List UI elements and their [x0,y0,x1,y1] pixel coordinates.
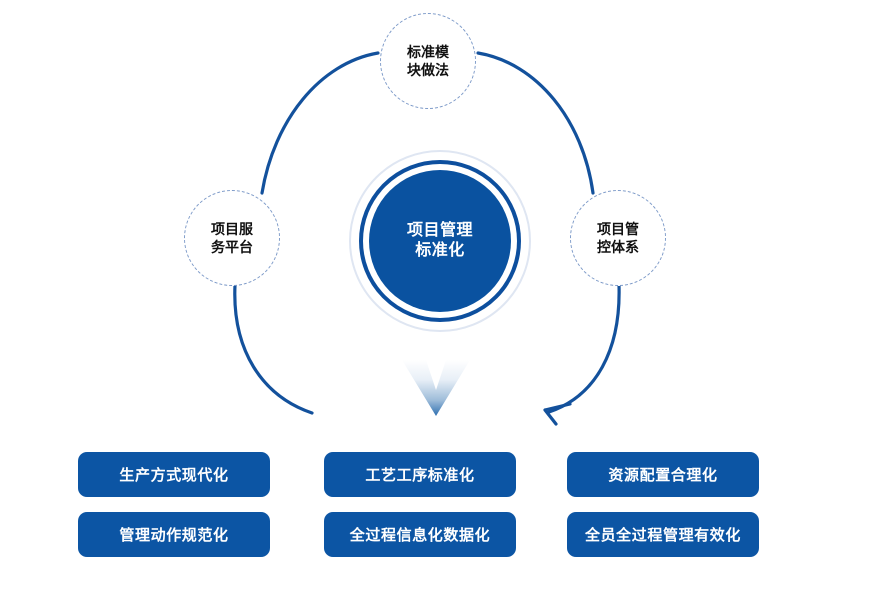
down-arrow-icon [396,356,476,418]
outcome-label: 工艺工序标准化 [365,464,474,485]
node-service-platform[interactable]: 项目服 务平台 [184,190,280,286]
center-core: 项目管理 标准化 [349,150,531,332]
arc-left-lower [235,285,312,413]
outcome-label: 管理动作规范化 [119,524,228,545]
center-ring-core: 项目管理 标准化 [369,170,511,312]
outcome-label: 全过程信息化数据化 [350,524,490,545]
diagram-canvas: 项目管理 标准化 标准模 块做法 项目服 务平台 项目管 控体系 生产方式现代化… [0,0,884,590]
outcome-box[interactable]: 全过程信息化数据化 [324,512,516,557]
node-standard-module[interactable]: 标准模 块做法 [380,13,476,109]
node-right-label: 项目管 控体系 [597,220,639,256]
center-title: 项目管理 标准化 [407,221,473,261]
arc-arrowhead [545,404,570,424]
outcome-box[interactable]: 管理动作规范化 [78,512,270,557]
outcome-box[interactable]: 生产方式现代化 [78,452,270,497]
outcome-label: 资源配置合理化 [608,464,717,485]
node-control-system[interactable]: 项目管 控体系 [570,190,666,286]
outcome-label: 生产方式现代化 [119,464,228,485]
outcome-box[interactable]: 全员全过程管理有效化 [567,512,759,557]
node-top-label: 标准模 块做法 [407,43,449,79]
outcome-box[interactable]: 资源配置合理化 [567,452,759,497]
arc-right-lower [549,285,619,412]
outcome-box[interactable]: 工艺工序标准化 [324,452,516,497]
outcome-label: 全员全过程管理有效化 [585,524,741,545]
node-left-label: 项目服 务平台 [211,220,253,256]
